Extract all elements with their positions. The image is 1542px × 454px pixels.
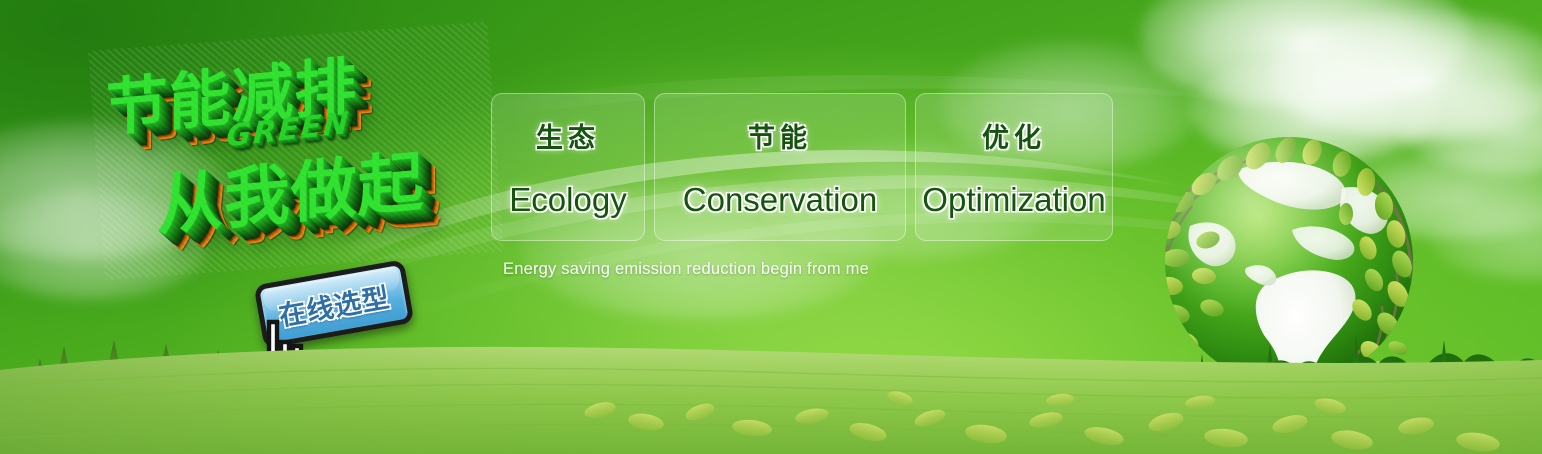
feature-card-list: 生态 Ecology 节能 Conservation 优化 Optimizati…: [491, 93, 1113, 241]
feature-card-optimization[interactable]: 优化 Optimization: [915, 93, 1113, 241]
feature-card-conservation[interactable]: 节能 Conservation: [654, 93, 906, 241]
feature-card-title-cn: 优化: [982, 116, 1046, 155]
feature-card-title-cn: 节能: [748, 116, 812, 155]
banner-tagline: Energy saving emission reduction begin f…: [503, 260, 869, 279]
feature-card-title-en: Ecology: [509, 181, 626, 219]
feature-card-title-en: Conservation: [683, 181, 877, 219]
green-hero-banner: 节能减排 GREEN 从我做起 在线选型 生态 Ecology 节能 Conse…: [0, 0, 1542, 454]
feature-card-ecology[interactable]: 生态 Ecology: [491, 93, 645, 241]
feature-card-title-cn: 生态: [536, 116, 600, 155]
feature-card-title-en: Optimization: [922, 181, 1105, 219]
